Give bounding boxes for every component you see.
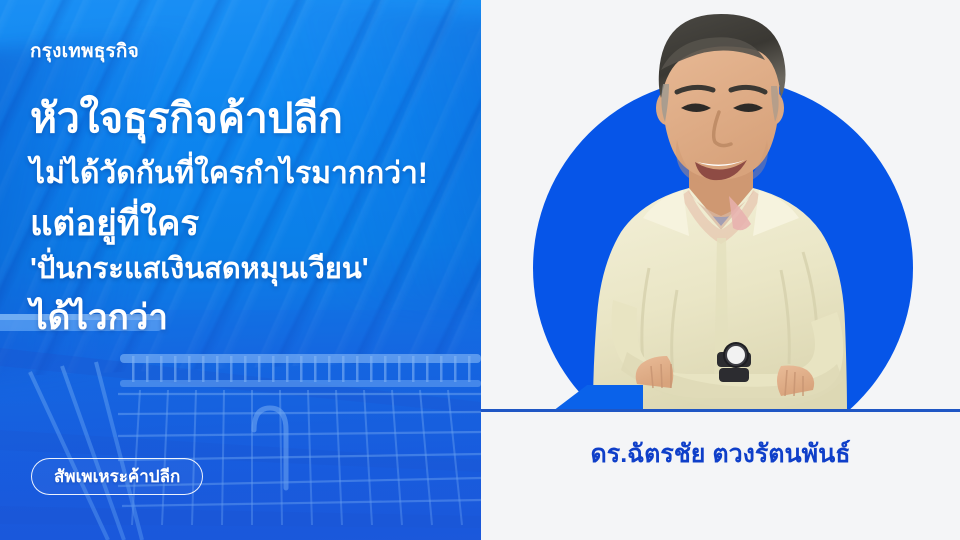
headline-block: หัวใจธุรกิจค้าปลีก ไม่ได้วัดกันที่ใครกำไ… xyxy=(30,98,470,335)
speaker-portrait xyxy=(481,0,960,411)
social-card: กรุงเทพธุรกิจ หัวใจธุรกิจค้าปลีก ไม่ได้ว… xyxy=(0,0,960,540)
headline-line-2: ไม่ได้วัดกันที่ใครกำไรมากกว่า! xyxy=(30,159,470,189)
left-blue-panel: กรุงเทพธุรกิจ หัวใจธุรกิจค้าปลีก ไม่ได้ว… xyxy=(0,0,481,540)
portrait-stage xyxy=(481,0,960,411)
category-tag-badge[interactable]: สัพเพเหระค้าปลีก xyxy=(31,458,203,495)
headline-line-3: แต่อยู่ที่ใคร xyxy=(30,206,470,241)
category-tag-label: สัพเพเหระค้าปลีก xyxy=(54,463,180,490)
right-white-panel: ดร.ฉัตรชัย ตวงรัตนพันธ์ xyxy=(481,0,960,540)
headline-line-5: ได้ไวกว่า xyxy=(30,300,470,335)
speaker-name: ดร.ฉัตรชัย ตวงรัตนพันธ์ xyxy=(481,434,960,474)
brand-label: กรุงเทพธุรกิจ xyxy=(30,36,139,66)
horizontal-divider xyxy=(481,409,960,412)
shopping-cart-background-icon xyxy=(0,310,481,540)
headline-line-1: หัวใจธุรกิจค้าปลีก xyxy=(30,98,470,139)
headline-line-4: 'ปั่นกระแสเงินสดหมุนเวียน' xyxy=(30,255,470,284)
